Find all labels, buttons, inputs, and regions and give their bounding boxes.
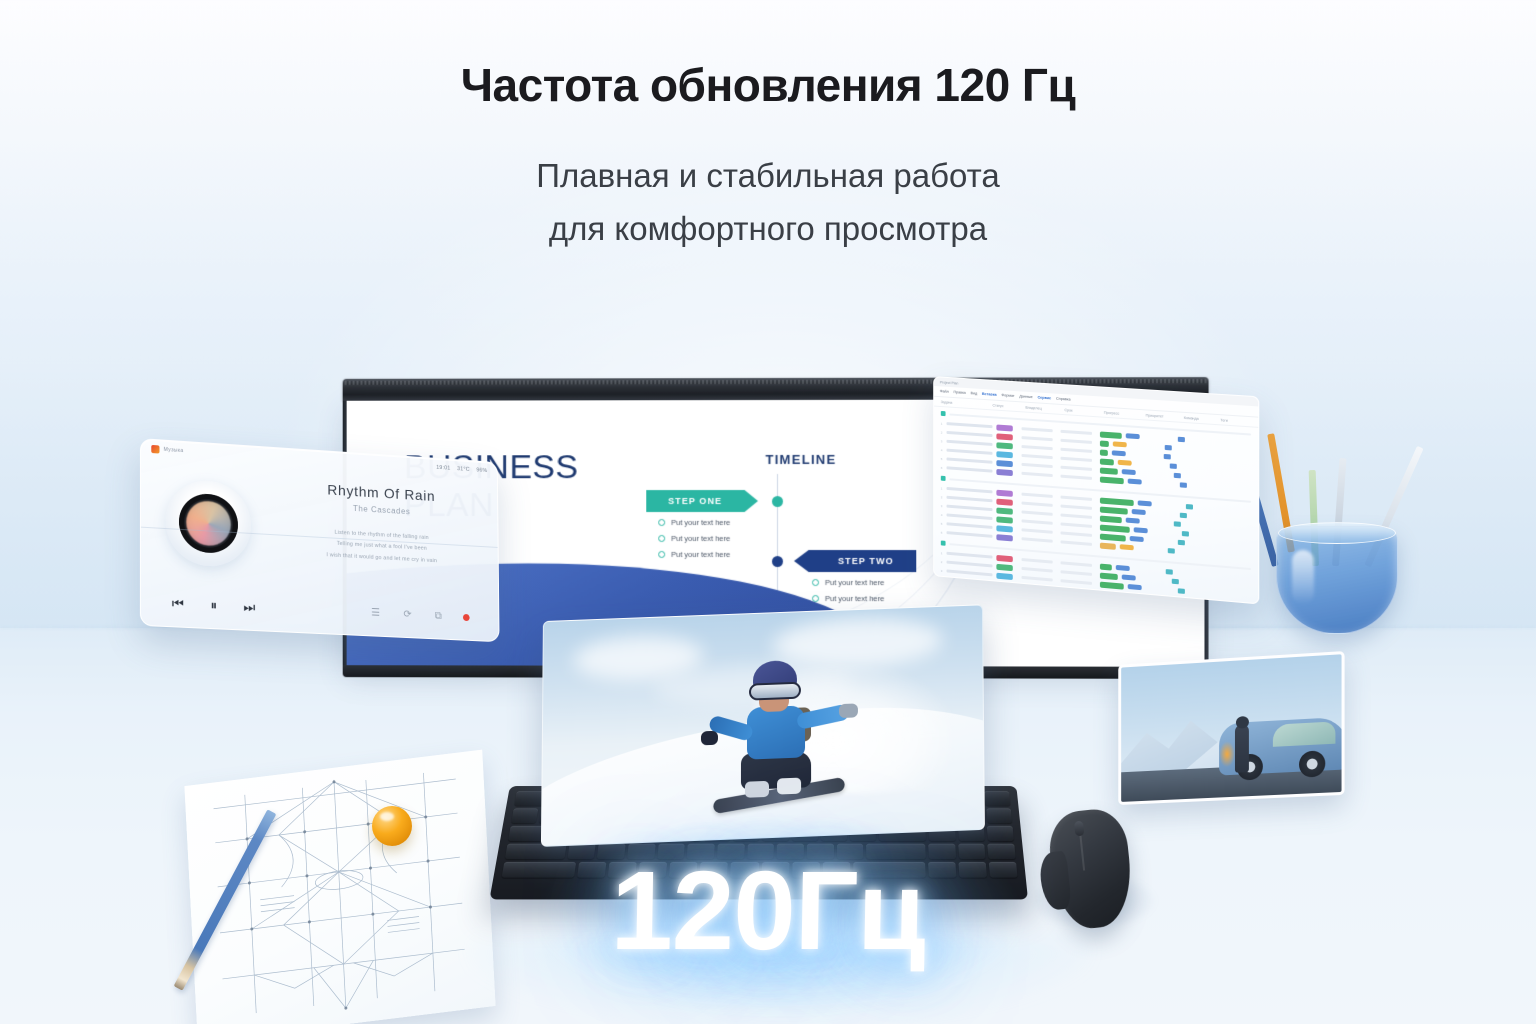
- group-toggle-icon[interactable]: [941, 540, 946, 545]
- spreadsheet-tab[interactable]: Project Plan: [940, 380, 958, 385]
- key[interactable]: [928, 844, 956, 859]
- toolbar-item-data[interactable]: Данные: [1019, 394, 1032, 399]
- timeline-bullets-step-one: Put your text here Put your text here Pu…: [658, 518, 730, 566]
- rider-goggles: [749, 682, 801, 701]
- group-toggle-icon[interactable]: [941, 411, 946, 416]
- headline-block: Частота обновления 120 Гц Плавная и стаб…: [0, 0, 1536, 256]
- key[interactable]: [988, 844, 1016, 859]
- column-header-task: Задача: [941, 400, 993, 407]
- repeat-icon[interactable]: ⟳: [403, 610, 411, 620]
- screen-cast-icon[interactable]: ⧉: [435, 611, 442, 621]
- key[interactable]: [747, 844, 774, 859]
- page-title: Частота обновления 120 Гц: [0, 58, 1536, 112]
- shift-right-key[interactable]: [853, 862, 925, 878]
- key[interactable]: [761, 862, 789, 878]
- subtitle-line-2: для комфортного просмотра: [0, 202, 1536, 255]
- key[interactable]: [597, 844, 626, 859]
- toolbar-item-file[interactable]: Файл: [940, 389, 949, 393]
- timeline-bullet: Put your text here: [825, 578, 884, 587]
- status-time: 19:01: [436, 465, 450, 472]
- next-track-icon[interactable]: ⏭: [243, 600, 255, 614]
- pause-icon[interactable]: ⏸: [210, 599, 217, 613]
- bullet-ring-icon: [658, 535, 665, 542]
- orange-ball: [372, 806, 412, 846]
- timeline-bullet: Put your text here: [825, 594, 884, 603]
- timeline-bullet: Put your text here: [671, 534, 730, 543]
- key[interactable]: [837, 844, 864, 859]
- bullet-ring-icon: [812, 579, 819, 586]
- toolbar-item-format[interactable]: Формат: [1001, 393, 1014, 398]
- rider-boot-left: [745, 781, 769, 798]
- key[interactable]: [657, 844, 685, 859]
- car-photo-panel[interactable]: [1118, 651, 1344, 805]
- key[interactable]: [928, 862, 956, 878]
- timeline-node-two: [772, 556, 783, 567]
- key[interactable]: [511, 808, 538, 823]
- rider-glove-right: [839, 703, 858, 718]
- ball-highlight: [380, 812, 394, 821]
- key[interactable]: [577, 862, 607, 878]
- person-figure: [1235, 724, 1249, 773]
- key[interactable]: [986, 826, 1013, 841]
- key[interactable]: [958, 844, 986, 859]
- key[interactable]: [777, 844, 804, 859]
- rider-glove-left: [701, 731, 718, 746]
- car-headlight-glow: [1219, 741, 1235, 768]
- track-info: Rhythm Of Rain The Cascades Listen to th…: [275, 468, 498, 598]
- column-header-status: Статус: [993, 403, 1026, 409]
- cup-rim: [1278, 522, 1396, 544]
- timeline-bullet: Put your text here: [671, 550, 730, 559]
- snowboard-photo-panel[interactable]: [541, 604, 985, 847]
- previous-track-icon[interactable]: ⏮: [172, 597, 184, 611]
- album-art-vinyl: [179, 492, 238, 554]
- column-header-team: Команда: [1184, 415, 1221, 421]
- keyboard-row-home[interactable]: [505, 844, 1016, 859]
- page-subtitle: Плавная и стабильная работа для комфортн…: [0, 149, 1536, 256]
- snowboarder-figure: [711, 658, 862, 814]
- music-player-controls[interactable]: ⏮ ⏸ ⏭ ☰ ⟳ ⧉: [141, 595, 499, 625]
- album-art-wrapper: [141, 459, 275, 586]
- music-player-status: 19:01 31°C 96%: [436, 465, 487, 474]
- subtitle-line-1: Плавная и стабильная работа: [0, 149, 1536, 202]
- spreadsheet-panel[interactable]: Project Plan Файл Правка Вид Вставка Фор…: [933, 376, 1259, 604]
- key[interactable]: [567, 844, 596, 859]
- status-temperature: 31°C: [457, 466, 470, 473]
- shift-key[interactable]: [502, 862, 576, 878]
- car-window: [1273, 721, 1336, 746]
- key[interactable]: [627, 844, 655, 859]
- column-header-priority: Приоритет: [1146, 413, 1184, 420]
- key[interactable]: [687, 844, 715, 859]
- enter-key[interactable]: [866, 844, 926, 859]
- mouse-scroll-wheel[interactable]: [1074, 821, 1085, 837]
- toolbar-item-insert[interactable]: Вставка: [982, 392, 997, 397]
- group-toggle-icon[interactable]: [941, 476, 946, 481]
- key[interactable]: [986, 808, 1012, 823]
- toolbar-item-tools[interactable]: Сервис: [1038, 395, 1052, 400]
- key[interactable]: [792, 862, 820, 878]
- rider-jacket: [747, 705, 805, 759]
- rider-boot-right: [777, 778, 801, 795]
- playlist-icon[interactable]: ☰: [371, 608, 380, 618]
- key[interactable]: [717, 844, 745, 859]
- toolbar-item-view[interactable]: Вид: [971, 391, 978, 395]
- column-header-owner: Владелец: [1025, 405, 1064, 412]
- key[interactable]: [638, 862, 667, 878]
- music-player-panel[interactable]: Музыка 19:01 31°C 96% Rhythm Of Rain The…: [140, 438, 500, 642]
- music-app-name: Музыка: [164, 447, 184, 454]
- key[interactable]: [958, 862, 987, 878]
- column-header-tags: Теги: [1220, 418, 1251, 424]
- key[interactable]: [700, 862, 729, 878]
- status-battery: 96%: [476, 467, 487, 474]
- music-logo-icon: [151, 445, 159, 454]
- timeline-bullet: Put your text here: [671, 518, 730, 527]
- cup-gloss-highlight: [1292, 550, 1314, 604]
- keyboard-row-bottom[interactable]: [502, 862, 1018, 878]
- album-art-halo: [166, 478, 252, 568]
- music-app-logo: Музыка: [151, 445, 183, 455]
- mouse[interactable]: [1046, 806, 1136, 932]
- bullet-ring-icon: [658, 519, 665, 526]
- key[interactable]: [989, 862, 1018, 878]
- timeline-chip-step-two: STEP TWO: [794, 550, 916, 572]
- record-dot-icon[interactable]: [463, 614, 470, 621]
- toolbar-item-edit[interactable]: Правка: [954, 390, 966, 395]
- column-header-progress: Прогресс: [1104, 410, 1146, 417]
- timeline-chip-step-one: STEP ONE: [646, 490, 758, 512]
- lyrics-block: Listen to the rhythm of the falling rain…: [277, 524, 484, 569]
- key[interactable]: [807, 844, 834, 859]
- key[interactable]: [984, 791, 1011, 806]
- timeline-node-one: [772, 496, 783, 507]
- key[interactable]: [669, 862, 698, 878]
- key[interactable]: [823, 862, 851, 878]
- timeline-heading: TIMELINE: [636, 452, 966, 467]
- toolbar-item-help[interactable]: Справка: [1056, 397, 1071, 402]
- key[interactable]: [730, 862, 758, 878]
- bullet-ring-icon: [658, 551, 665, 558]
- key[interactable]: [607, 862, 636, 878]
- pencil-cup-group: [1248, 430, 1448, 645]
- column-header-due: Срок: [1064, 408, 1103, 415]
